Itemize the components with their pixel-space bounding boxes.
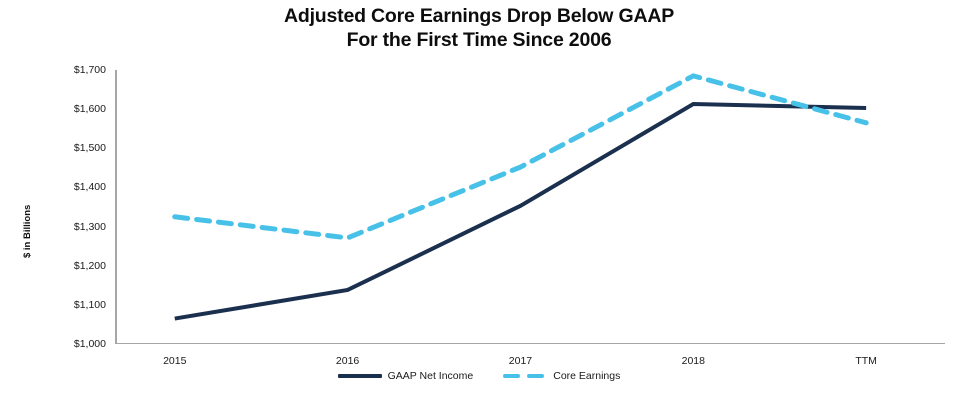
y-axis-tick-label: $1,500: [44, 143, 106, 153]
y-axis-tick-label: $1,600: [44, 104, 106, 114]
legend-swatch-icon: [503, 374, 547, 378]
x-axis-tick-label: 2018: [682, 355, 705, 367]
series-line-gaap-net-income: [175, 104, 866, 319]
y-axis-tick-label: $1,700: [44, 65, 106, 75]
legend-item[interactable]: Core Earnings: [503, 370, 620, 382]
series-lines: [115, 70, 945, 344]
legend-label: GAAP Net Income: [388, 370, 474, 382]
y-axis-tick-label: $1,300: [44, 222, 106, 232]
legend-swatch-icon: [338, 374, 382, 378]
chart-title-line-1: Adjusted Core Earnings Drop Below GAAP: [0, 4, 958, 28]
x-axis-tick-label: 2016: [336, 355, 359, 367]
y-axis-tick-label: $1,400: [44, 182, 106, 192]
series-line-core-earnings: [175, 76, 866, 238]
legend-item[interactable]: GAAP Net Income: [338, 370, 474, 382]
y-axis-tick-label: $1,000: [44, 339, 106, 349]
plot-area: $1,000$1,100$1,200$1,300$1,400$1,500$1,6…: [115, 70, 945, 344]
x-axis-tick-label: 2015: [163, 355, 186, 367]
y-axis-title-text: $ in Billions: [22, 118, 33, 258]
y-axis-tick-label: $1,200: [44, 261, 106, 271]
chart-title-line-2: For the First Time Since 2006: [0, 28, 958, 52]
x-axis-tick-label: 2017: [509, 355, 532, 367]
legend-label: Core Earnings: [553, 370, 620, 382]
y-axis-title: $ in Billions: [8, 10, 19, 150]
chart-legend: GAAP Net IncomeCore Earnings: [0, 370, 958, 382]
x-axis-tick-label: TTM: [855, 355, 877, 367]
chart-title: Adjusted Core Earnings Drop Below GAAP F…: [0, 4, 958, 52]
chart-container: Adjusted Core Earnings Drop Below GAAP F…: [0, 0, 958, 400]
y-axis-tick-label: $1,100: [44, 300, 106, 310]
